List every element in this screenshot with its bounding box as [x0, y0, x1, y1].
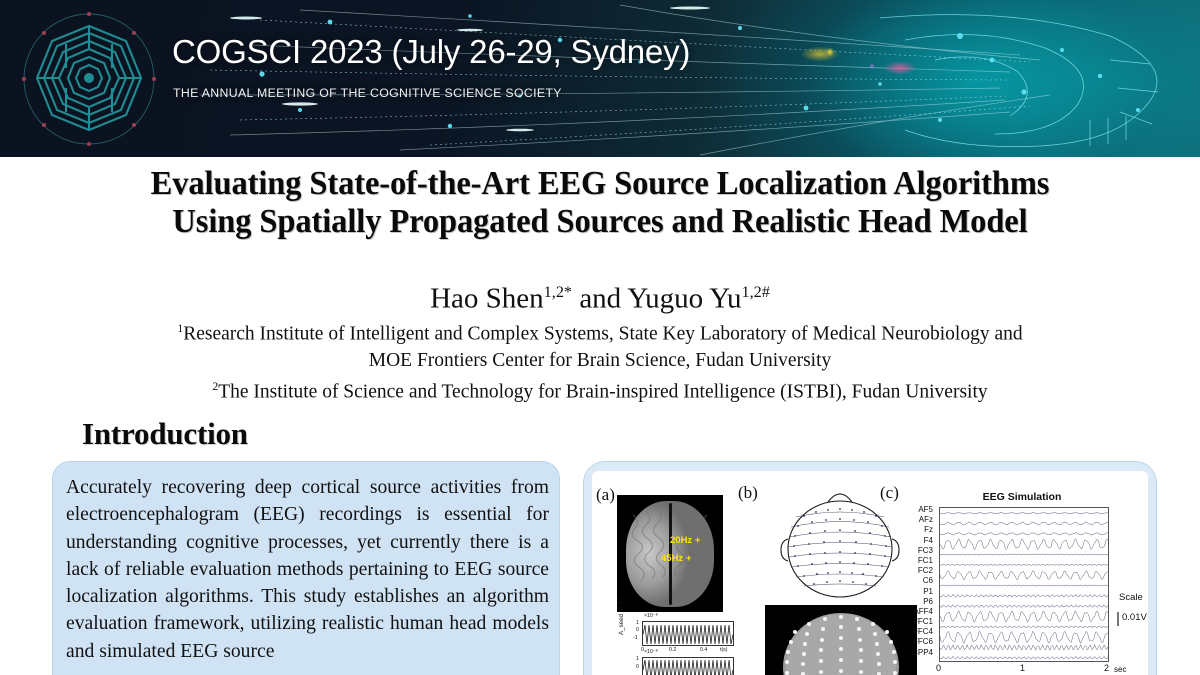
cogsci-logo-icon — [18, 8, 160, 150]
affiliation-1-text-1: Research Institute of Intelligent and Co… — [183, 324, 1022, 345]
eeg-trace-cpp4 — [940, 656, 1109, 659]
eeg-trace-fz — [940, 532, 1109, 535]
eeg-simulation-title: EEG Simulation — [922, 491, 1122, 503]
eeg-trace-fc1 — [940, 564, 1109, 566]
paper-title-line2: Using Spatially Propagated Sources and R… — [18, 203, 1182, 241]
eeg-channel-label: FFC4 — [880, 627, 936, 637]
waveform-1-exponent: ×10⁻⁸ — [644, 613, 658, 619]
waveform-1-xtick-04: 0.4 — [700, 647, 707, 653]
eeg-channel-label: P1 — [880, 587, 936, 597]
eeg-xtick-2: 2 — [1104, 663, 1109, 673]
waveform-2-exponent: ×10⁻⁸ — [644, 649, 658, 655]
eeg-channel-label: F4 — [880, 536, 936, 546]
waveform-1-trace — [643, 622, 735, 647]
eeg-trace-f4 — [940, 539, 1109, 550]
eeg-channel-label: FFC6 — [880, 637, 936, 647]
eeg-channel-label: CPP4 — [880, 648, 936, 658]
brain-surface-image: 20Hz + 45Hz + — [617, 495, 723, 612]
eeg-scale-value: 0.01V — [1122, 612, 1147, 623]
paper-title-line1: Evaluating State-of-the-Art EEG Source L… — [151, 165, 1050, 202]
introduction-panel: Accurately recovering deep cortical sour… — [52, 461, 560, 675]
waveform-2-ytick-1: 1 — [636, 656, 639, 662]
eeg-xunit: sec — [1114, 665, 1126, 674]
seed-waveform-group: A_seed (A·m) ×10⁻⁸ 1 0 -1 0 0.2 0.4 t(s)… — [624, 619, 736, 675]
affiliation-1-line-2: MOE Frontiers Center for Brain Science, … — [0, 348, 1200, 374]
eeg-channel-label: AFz — [880, 515, 936, 525]
eeg-trace-aff4 — [940, 611, 1109, 622]
eeg-channel-label: FC2 — [880, 566, 936, 576]
affiliations: 1Research Institute of Intelligent and C… — [0, 316, 1200, 405]
eeg-channel-labels: AF5AFzFzF4FC3FC1FC2C6P1P6AFF4FFC1FFC4FFC… — [880, 505, 936, 658]
panel-a-label: (a) — [596, 485, 615, 505]
figure-panel: (a) 20Hz + 45Hz + A_seed (A — [583, 461, 1157, 675]
page-title: Evaluating State-of-the-Art EEG Source L… — [18, 165, 1182, 241]
eeg-trace-p1 — [940, 594, 1109, 597]
eeg-trace-ffc1 — [940, 626, 1109, 628]
panel-c-label: (c) — [880, 483, 899, 503]
author-one-name: Hao Shen — [430, 283, 544, 315]
eeg-channel-label: FC3 — [880, 546, 936, 556]
eeg-channel-label: AFF4 — [880, 607, 936, 617]
affiliation-1-line-1: 1Research Institute of Intelligent and C… — [0, 316, 1200, 348]
eeg-xtick-1: 1 — [1020, 663, 1025, 673]
panel-b-label: (b) — [738, 483, 758, 503]
author-conjunction: and Yuguo Yu — [572, 283, 741, 315]
introduction-body-text: Accurately recovering deep cortical sour… — [66, 474, 549, 665]
waveform-1-ytick-0: 0 — [636, 627, 639, 633]
eeg-xtick-0: 0 — [936, 663, 941, 673]
section-heading-introduction: Introduction — [82, 416, 248, 452]
eeg-simulation-plot — [939, 507, 1109, 662]
author-one-sup: 1,2* — [544, 283, 572, 301]
waveform-1-xtick-02: 0.2 — [669, 647, 676, 653]
eeg-trace-c6 — [940, 585, 1109, 587]
poster-page: COGSCI 2023 (July 26-29, Sydney) THE ANN… — [0, 0, 1200, 675]
banner-title: COGSCI 2023 (July 26-29, Sydney) — [172, 33, 690, 71]
waveform-1-xunit: t(s) — [720, 647, 728, 653]
waveform-1-ytick-1: 1 — [636, 620, 639, 626]
banner-highlights — [0, 0, 1200, 157]
eeg-channel-label: FFC1 — [880, 617, 936, 627]
eeg-trace-fc2 — [940, 571, 1109, 580]
eeg-trace-p6 — [940, 605, 1109, 608]
eeg-channel-label: AF5 — [880, 505, 936, 515]
eeg-trace-afz — [940, 522, 1109, 525]
figure-inner-area: (a) 20Hz + 45Hz + A_seed (A — [592, 471, 1148, 675]
author-list: Hao Shen1,2* and Yuguo Yu1,2# — [0, 275, 1200, 316]
waveform-2-ytick-0: 0 — [636, 664, 639, 670]
banner-subtitle: THE ANNUAL MEETING OF THE COGNITIVE SCIE… — [173, 86, 562, 100]
waveform-2-trace — [643, 658, 735, 675]
affiliation-2-text-1: The Institute of Science and Technology … — [218, 381, 987, 402]
author-two-sup: 1,2# — [742, 283, 770, 301]
eeg-channel-label: C6 — [880, 576, 936, 586]
conference-banner: COGSCI 2023 (July 26-29, Sydney) THE ANN… — [0, 0, 1200, 157]
eeg-trace-ffc6 — [940, 645, 1109, 651]
eeg-scale-label: Scale — [1119, 592, 1143, 603]
annotation-20hz: 20Hz + — [670, 535, 700, 546]
eeg-trace-fc3 — [940, 554, 1109, 556]
annotation-45hz: 45Hz + — [661, 553, 691, 564]
eeg-scale-bar-icon — [1117, 612, 1119, 626]
waveform-1-axes — [642, 621, 734, 646]
eeg-trace-ffc4 — [940, 631, 1109, 643]
eeg-channel-label: Fz — [880, 525, 936, 535]
eeg-trace-af5 — [940, 512, 1109, 514]
seed-waveform-ylabel: A_seed (A·m) — [618, 597, 625, 635]
waveform-2-axes — [642, 657, 734, 675]
eeg-channel-label: P6 — [880, 597, 936, 607]
waveform-1-ytick-neg1: -1 — [633, 635, 638, 641]
eeg-traces — [940, 508, 1109, 662]
affiliation-2-line-1: 2The Institute of Science and Technology… — [0, 374, 1200, 406]
eeg-channel-label: FC1 — [880, 556, 936, 566]
